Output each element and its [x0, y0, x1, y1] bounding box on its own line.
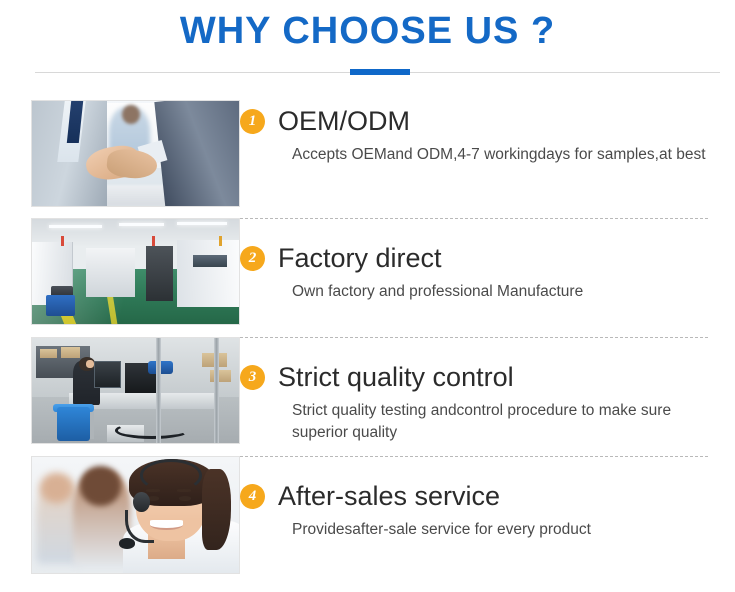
- feature-text-cell: 1 OEM/ODM Accepts OEMand ODM,4-7 working…: [240, 100, 735, 166]
- feature-description: Accepts OEMand ODM,4-7 workingdays for s…: [292, 144, 712, 166]
- page-title: WHY CHOOSE US ?: [0, 8, 735, 54]
- feature-title: Strict quality control: [278, 360, 514, 394]
- feature-divider: [240, 456, 708, 457]
- feature-heading-line: 4 After-sales service: [240, 479, 723, 513]
- feature-image-cell: [0, 456, 240, 574]
- feature-number-badge: 3: [240, 365, 265, 390]
- feature-image-cell: [0, 337, 240, 444]
- feature-heading-line: 2 Factory direct: [240, 241, 723, 275]
- feature-title: OEM/ODM: [278, 104, 410, 138]
- feature-title: After-sales service: [278, 479, 500, 513]
- quality-inspection-workstation-photo: [31, 337, 240, 444]
- feature-divider: [240, 218, 708, 219]
- feature-text-cell: 4 After-sales service Providesafter-sale…: [240, 456, 735, 541]
- feature-number-badge: 4: [240, 484, 265, 509]
- feature-divider: [240, 337, 708, 338]
- title-underline-rule: [35, 69, 720, 77]
- feature-text-cell: 2 Factory direct Own factory and profess…: [240, 218, 735, 303]
- feature-description: Providesafter-sale service for every pro…: [292, 519, 712, 541]
- factory-production-line-photo: [31, 218, 240, 325]
- feature-row: 1 OEM/ODM Accepts OEMand ODM,4-7 working…: [0, 100, 735, 218]
- feature-heading-line: 3 Strict quality control: [240, 360, 723, 394]
- feature-row: 4 After-sales service Providesafter-sale…: [0, 456, 735, 574]
- feature-text-cell: 3 Strict quality control Strict quality …: [240, 337, 735, 444]
- feature-number-badge: 1: [240, 109, 265, 134]
- rule-accent-bar: [350, 69, 410, 75]
- feature-image-cell: [0, 218, 240, 325]
- page-header: WHY CHOOSE US ?: [0, 0, 735, 100]
- feature-number-badge: 2: [240, 246, 265, 271]
- feature-list: 1 OEM/ODM Accepts OEMand ODM,4-7 working…: [0, 100, 735, 574]
- business-handshake-photo: [31, 100, 240, 207]
- feature-heading-line: 1 OEM/ODM: [240, 104, 723, 138]
- feature-title: Factory direct: [278, 241, 442, 275]
- feature-description: Own factory and professional Manufacture: [292, 281, 712, 303]
- feature-description: Strict quality testing andcontrol proced…: [292, 400, 712, 444]
- feature-row: 3 Strict quality control Strict quality …: [0, 337, 735, 456]
- feature-row: 2 Factory direct Own factory and profess…: [0, 218, 735, 337]
- feature-image-cell: [0, 100, 240, 207]
- customer-support-agent-photo: [31, 456, 240, 574]
